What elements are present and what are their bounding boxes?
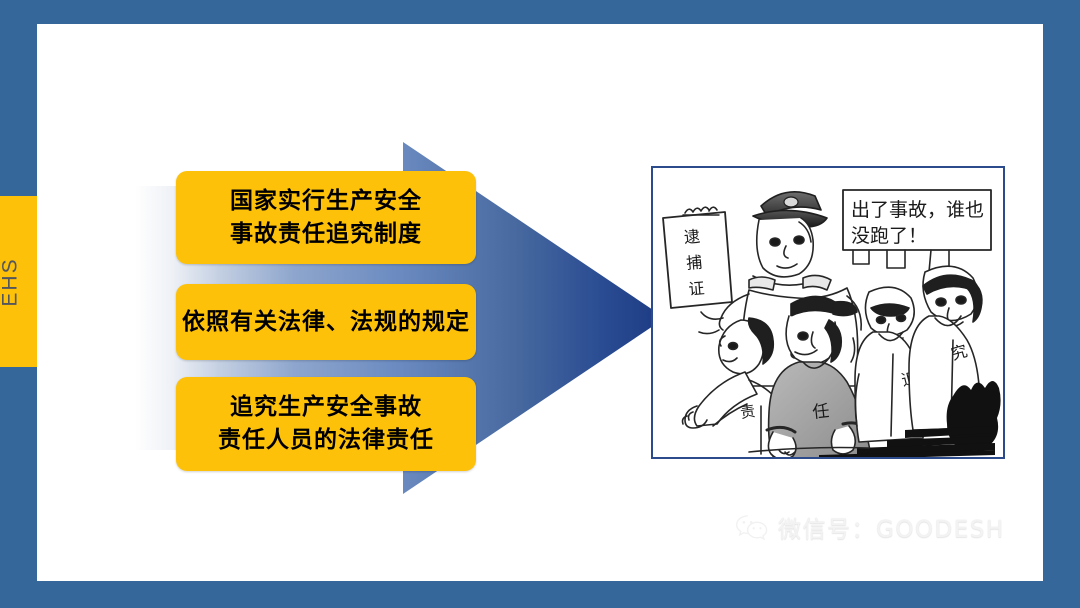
point-box-1-line-1: 国家实行生产安全	[230, 185, 422, 218]
point-box-3[interactable]: 追究生产安全事故 责任人员的法律责任	[176, 377, 476, 471]
point-box-2[interactable]: 依照有关法律、法规的规定	[176, 284, 476, 360]
point-box-1-line-2: 事故责任追究制度	[230, 218, 422, 251]
svg-text:逮: 逮	[683, 227, 701, 247]
sidebar-tab-ehs[interactable]: EHS	[0, 196, 37, 367]
slide-canvas: 国家实行生产安全 事故责任追究制度 依照有关法律、法规的规定 追究生产安全事故 …	[37, 24, 1043, 581]
sidebar-tab-ehs-label: EHS	[0, 257, 23, 306]
speech-line-2: 没跑了！	[851, 225, 927, 247]
cartoon-illustration-panel: 责	[651, 166, 1005, 459]
point-box-2-line-1: 依照有关法律、法规的规定	[182, 306, 470, 339]
point-box-3-line-2: 责任人员的法律责任	[218, 424, 434, 457]
svg-text:捕: 捕	[685, 253, 703, 273]
slide-root: 国家实行生产安全 事故责任追究制度 依照有关法律、法规的规定 追究生产安全事故 …	[0, 0, 1080, 608]
wechat-icon	[735, 513, 769, 541]
wechat-watermark-text: 微信号：GOODESH	[778, 510, 1005, 544]
svg-text:任: 任	[811, 401, 830, 423]
point-box-1[interactable]: 国家实行生产安全 事故责任追究制度	[176, 171, 476, 264]
point-box-3-line-1: 追究生产安全事故	[230, 391, 422, 424]
wechat-watermark: 微信号：GOODESH	[735, 510, 1005, 544]
speech-line-1: 出了事故，谁也	[851, 199, 984, 221]
svg-text:证: 证	[688, 278, 706, 298]
svg-text:责: 责	[739, 402, 756, 422]
